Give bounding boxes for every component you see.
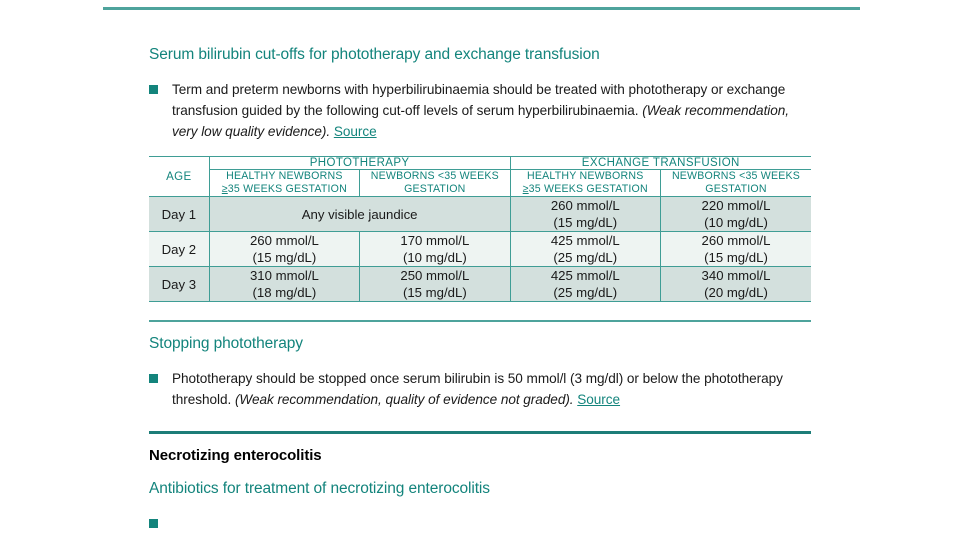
bullet-serum-bilirubin-text: Term and preterm newborns with hyperbili… (172, 79, 811, 142)
cell-day2-exchange-under35: 260 mmol/L (15 mg/dL) (660, 232, 811, 267)
table-header-group-phototherapy: PHOTOTHERAPY (209, 157, 510, 170)
table-group-header-row: AGE PHOTOTHERAPY EXCHANGE TRANSFUSION (149, 157, 811, 170)
bullet-stopping-phototherapy-italic: (Weak recommendation, quality of evidenc… (235, 392, 574, 407)
sub-line1: NEWBORNS <35 WEEKS (371, 170, 499, 182)
cell-day2-phototherapy-healthy: 260 mmol/L (15 mg/dL) (209, 232, 359, 267)
table-row: Day 1 Any visible jaundice 260 mmol/L (1… (149, 197, 811, 232)
value-secondary: (15 mg/dL) (553, 215, 617, 230)
value-primary: 260 mmol/L (702, 233, 771, 248)
row-age-day1: Day 1 (149, 197, 209, 232)
value-secondary: (25 mg/dL) (553, 250, 617, 265)
bullet-square-icon (149, 374, 158, 383)
value-primary: 425 mmol/L (551, 268, 620, 283)
heading-antibiotics-necrotizing-enterocolitis: Antibiotics for treatment of necrotizing… (149, 479, 811, 499)
table-head: AGE PHOTOTHERAPY EXCHANGE TRANSFUSION HE… (149, 157, 811, 197)
sub-line1: NEWBORNS <35 WEEKS (672, 170, 800, 182)
cell-day3-phototherapy-healthy: 310 mmol/L (18 mg/dL) (209, 267, 359, 302)
cell-day2-exchange-healthy: 425 mmol/L (25 mg/dL) (510, 232, 660, 267)
value-secondary: (15 mg/dL) (253, 250, 317, 265)
cell-day3-exchange-healthy: 425 mmol/L (25 mg/dL) (510, 267, 660, 302)
table-row: Day 2 260 mmol/L (15 mg/dL) 170 mmol/L (… (149, 232, 811, 267)
value-secondary: (15 mg/dL) (704, 250, 768, 265)
table-header-group-exchange-transfusion: EXCHANGE TRANSFUSION (510, 157, 811, 170)
cell-day1-exchange-under35: 220 mmol/L (10 mg/dL) (660, 197, 811, 232)
row-age-day3: Day 3 (149, 267, 209, 302)
sub-line2: GESTATION (705, 183, 766, 195)
value-secondary: (10 mg/dL) (403, 250, 467, 265)
sub-line2: 35 WEEKS GESTATION (228, 183, 347, 195)
heading-stopping-phototherapy: Stopping phototherapy (149, 334, 811, 354)
sub-line2: GESTATION (404, 183, 465, 195)
table-header-newborns-under35-pt: NEWBORNS <35 WEEKS GESTATION (360, 170, 510, 197)
value-secondary: (10 mg/dL) (704, 215, 768, 230)
table-header-newborns-under35-et: NEWBORNS <35 WEEKS GESTATION (660, 170, 811, 197)
table-header-age: AGE (149, 157, 209, 197)
sub-line1: HEALTHY NEWBORNS (527, 170, 643, 182)
value-primary: 340 mmol/L (702, 268, 771, 283)
top-divider-rule (103, 7, 860, 10)
value-primary: 260 mmol/L (551, 198, 620, 213)
document-page: Serum bilirubin cut-offs for phototherap… (0, 0, 963, 542)
divider-before-stopping-phototherapy (149, 320, 811, 322)
value-primary: 250 mmol/L (400, 268, 469, 283)
bullet-serum-bilirubin: Term and preterm newborns with hyperbili… (149, 79, 811, 142)
sub-line1: HEALTHY NEWBORNS (226, 170, 342, 182)
bullet-square-icon (149, 85, 158, 94)
value-secondary: (15 mg/dL) (403, 285, 467, 300)
value-secondary: (18 mg/dL) (253, 285, 317, 300)
bullet-square-icon (149, 519, 158, 528)
content-column: Serum bilirubin cut-offs for phototherap… (149, 45, 811, 528)
value-primary: 260 mmol/L (250, 233, 319, 248)
value-primary: 220 mmol/L (702, 198, 771, 213)
table-body: Day 1 Any visible jaundice 260 mmol/L (1… (149, 197, 811, 302)
cell-day2-phototherapy-under35: 170 mmol/L (10 mg/dL) (360, 232, 510, 267)
bullet-stopping-phototherapy-text: Phototherapy should be stopped once seru… (172, 368, 811, 410)
row-age-day2: Day 2 (149, 232, 209, 267)
divider-before-necrotizing-enterocolitis (149, 431, 811, 434)
value-primary: 310 mmol/L (250, 268, 319, 283)
table-sub-header-row: HEALTHY NEWBORNS ≥35 WEEKS GESTATION NEW… (149, 170, 811, 197)
heading-serum-bilirubin: Serum bilirubin cut-offs for phototherap… (149, 45, 811, 65)
source-link-serum-bilirubin[interactable]: Source (334, 124, 377, 139)
value-secondary: (25 mg/dL) (553, 285, 617, 300)
bullet-stopping-phototherapy: Phototherapy should be stopped once seru… (149, 368, 811, 410)
cell-day1-phototherapy-merged: Any visible jaundice (209, 197, 510, 232)
source-link-stopping-phototherapy[interactable]: Source (577, 392, 620, 407)
bullet-antibiotics-clipped (149, 513, 811, 528)
sub-line2: 35 WEEKS GESTATION (529, 183, 648, 195)
table-row: Day 3 310 mmol/L (18 mg/dL) 250 mmol/L (… (149, 267, 811, 302)
cell-day1-exchange-healthy: 260 mmol/L (15 mg/dL) (510, 197, 660, 232)
value-primary: 170 mmol/L (400, 233, 469, 248)
bilirubin-cutoffs-table: AGE PHOTOTHERAPY EXCHANGE TRANSFUSION HE… (149, 156, 811, 302)
table-header-healthy-newborns-pt: HEALTHY NEWBORNS ≥35 WEEKS GESTATION (209, 170, 359, 197)
cell-day3-exchange-under35: 340 mmol/L (20 mg/dL) (660, 267, 811, 302)
value-primary: 425 mmol/L (551, 233, 620, 248)
value-secondary: (20 mg/dL) (704, 285, 768, 300)
heading-necrotizing-enterocolitis: Necrotizing enterocolitis (149, 446, 811, 466)
table-header-healthy-newborns-et: HEALTHY NEWBORNS ≥35 WEEKS GESTATION (510, 170, 660, 197)
cell-day3-phototherapy-under35: 250 mmol/L (15 mg/dL) (360, 267, 510, 302)
